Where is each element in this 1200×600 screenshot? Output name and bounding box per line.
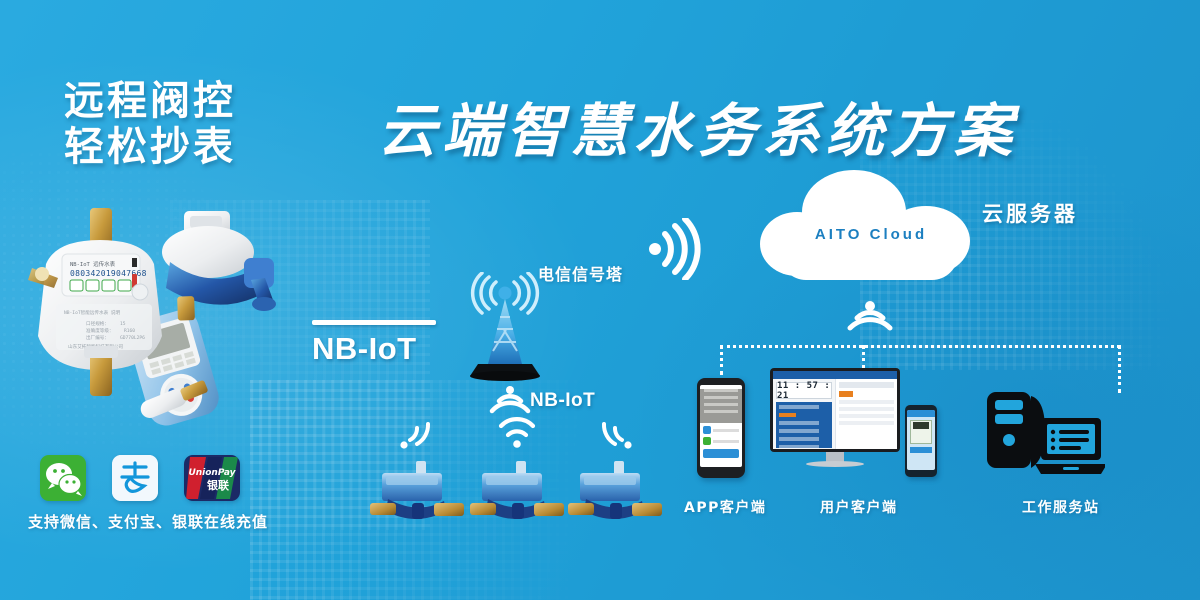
unionpay-icon[interactable]: UnionPay 银联 [184, 455, 240, 501]
wifi-icon-meter-1 [398, 420, 436, 450]
nbiot-main-text: NB-IoT [312, 331, 436, 367]
connector-horizontal [720, 345, 1120, 348]
wifi-icon-cloud-down [845, 300, 895, 340]
sub-headline-line-2: 轻松抄表 [64, 124, 294, 170]
dashboard-clock: 11 : 57 : 21 [776, 382, 832, 399]
payment-caption: 支持微信、支付宝、银联在线充值 [28, 511, 268, 532]
sub-headline-line-1: 远程阀控 [64, 78, 294, 124]
field-water-meter-1 [368, 455, 468, 525]
svg-text:银联: 银联 [207, 478, 229, 492]
water-meter-valve [162, 211, 276, 311]
dashboard-header [773, 371, 897, 379]
water-meter-products: NB-IoT 远传水表 080342019047668 NB-IoT智能远传水表… [28, 208, 308, 458]
desktop-monitor-icon: 11 : 57 : 21 [770, 368, 900, 468]
monitor-screen: 11 : 57 : 21 [773, 371, 897, 449]
svg-text:R160: R160 [124, 328, 135, 334]
field-water-meter-2 [468, 455, 568, 525]
client-label-app: APP客户端 [684, 497, 766, 517]
smartphone-screen [700, 385, 742, 467]
svg-text:出厂编号：: 出厂编号： [86, 334, 109, 341]
nbiot-underline [312, 320, 436, 325]
smart-water-system-banner: 远程阀控 轻松抄表 云端智慧水务系统方案 AITO Cloud 云服务器 电信信… [0, 0, 1200, 600]
smartphone-icon [697, 378, 745, 478]
client-label-station: 工作服务站 [1022, 497, 1100, 517]
signal-tower-icon [462, 272, 548, 382]
handheld-meter-reader-icon [905, 405, 937, 477]
workstation-icon [985, 390, 1105, 486]
signal-tower-label: 电信信号塔 [538, 261, 623, 285]
dashboard-right-pane [835, 379, 897, 449]
svg-text:口径规格：: 口径规格： [86, 320, 109, 327]
app-list-row [703, 426, 739, 434]
dashboard-left-pane: 11 : 57 : 21 [773, 379, 835, 449]
monitor-bezel: 11 : 57 : 21 [770, 368, 900, 452]
client-label-user: 用户客户端 [820, 497, 898, 517]
wifi-icon-meter-2 [497, 417, 537, 449]
nbiot-sub-label: NB-IoT [530, 390, 595, 412]
alipay-icon[interactable] [112, 455, 158, 501]
svg-text:15: 15 [120, 321, 126, 327]
connector-to-app [720, 345, 723, 375]
wechat-icon[interactable] [40, 455, 86, 501]
svg-text:准确度等级：: 准确度等级： [86, 327, 114, 334]
cloud-name-label: AITO Cloud [806, 226, 936, 243]
nbiot-main-label: NB-IoT [312, 320, 436, 367]
svg-text:GD770L2P6: GD770L2P6 [120, 335, 145, 341]
page-title: 云端智慧水务系统方案 [378, 84, 1018, 168]
field-water-meter-3 [566, 455, 666, 525]
connector-to-station [1118, 345, 1121, 393]
cloud-server-label: 云服务器 [982, 198, 1078, 228]
app-list-row [703, 437, 739, 445]
svg-text:UnionPay: UnionPay [188, 468, 236, 478]
cloud-graphic: AITO Cloud [760, 168, 980, 288]
payment-methods: UnionPay 银联 [40, 455, 240, 501]
app-primary-button [703, 449, 739, 458]
wifi-icon-meter-3 [596, 420, 634, 450]
wifi-icon-to-cloud [645, 218, 701, 280]
svg-text:NB-IoT智能远传水表 说明: NB-IoT智能远传水表 说明 [64, 309, 121, 316]
app-screen-header [700, 389, 742, 423]
dashboard-device-list [776, 402, 832, 448]
wifi-icon-tower-down [487, 385, 533, 421]
monitor-stand-base [806, 461, 864, 467]
svg-text:NB-IoT 远传水表: NB-IoT 远传水表 [70, 260, 116, 268]
handheld-screen [907, 410, 935, 470]
connector-to-user [862, 345, 865, 369]
sub-headline: 远程阀控 轻松抄表 [64, 78, 294, 171]
